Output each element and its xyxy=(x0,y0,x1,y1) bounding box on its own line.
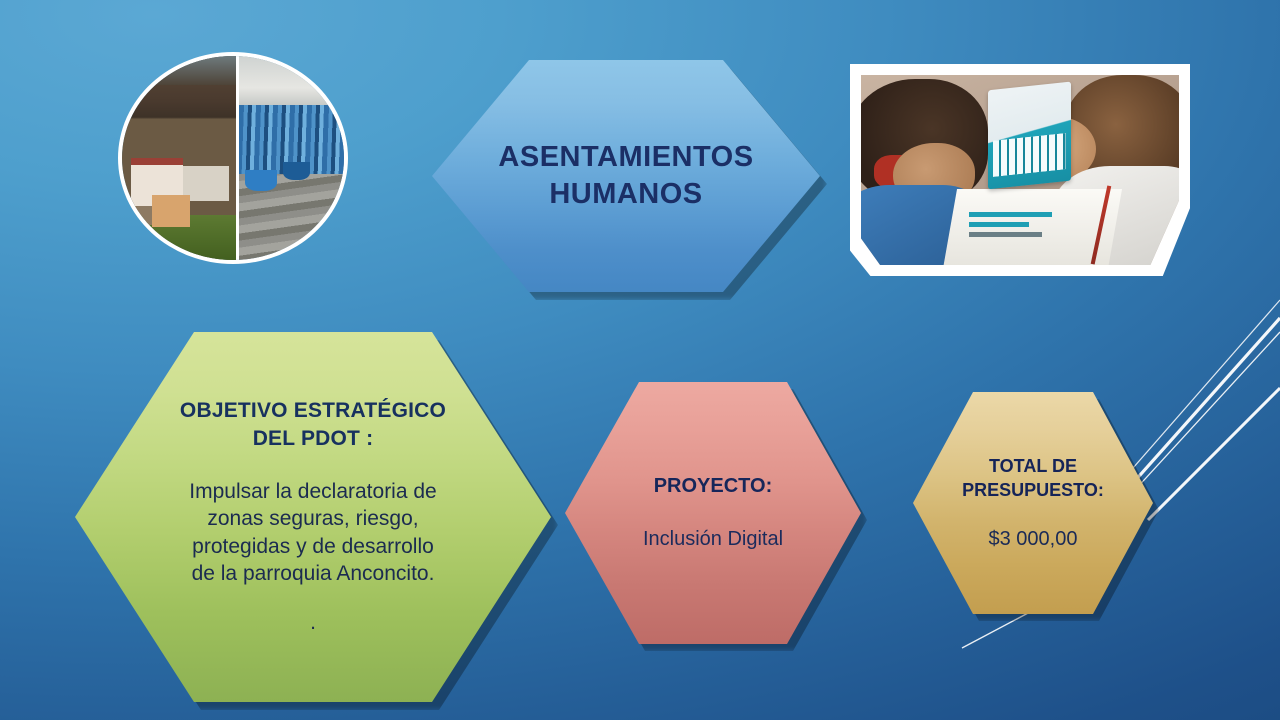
village-illustration xyxy=(122,56,236,260)
presupuesto-label-line-1: TOTAL DE xyxy=(962,455,1104,478)
worksheet-bar-1 xyxy=(969,212,1052,217)
harbor-illustration xyxy=(239,56,344,260)
objetivo-body-line-4: de la parroquia Anconcito. xyxy=(180,560,446,587)
objetivo-title-line-1: OBJETIVO ESTRATÉGICO xyxy=(180,397,446,424)
proyecto-hexagon-content: PROYECTO: Inclusión Digital xyxy=(643,475,783,551)
village-photo-half xyxy=(122,56,236,260)
village-house-3 xyxy=(152,195,191,228)
classroom-photo-frame xyxy=(850,64,1190,276)
presentation-slide: ASENTAMIENTOS HUMANOS OBJETIVO ESTRATÉGI… xyxy=(0,0,1280,720)
laptop-keyboard xyxy=(993,134,1066,177)
decor-line-4 xyxy=(1148,388,1280,520)
harbor-boat-a xyxy=(245,170,277,190)
title-hexagon-text: ASENTAMIENTOS HUMANOS xyxy=(498,139,753,213)
presupuesto-hexagon-content: TOTAL DE PRESUPUESTO: $3 000,00 xyxy=(962,455,1104,550)
title-line-1: ASENTAMIENTOS xyxy=(498,139,753,176)
objetivo-title: OBJETIVO ESTRATÉGICO DEL PDOT : xyxy=(180,397,446,452)
harbor-town xyxy=(239,56,344,109)
objetivo-body-line-3: protegidas y de desarrollo xyxy=(180,533,446,560)
proyecto-label: PROYECTO: xyxy=(643,475,783,498)
objetivo-body-line-1: Impulsar la declaratoria de xyxy=(180,478,446,505)
objetivo-body: Impulsar la declaratoria de zonas segura… xyxy=(180,478,446,587)
harbor-photo-half xyxy=(236,56,344,260)
worksheet-bar-2 xyxy=(969,222,1029,227)
split-circle-photo xyxy=(118,52,348,264)
laptop-device xyxy=(988,82,1071,189)
objetivo-title-line-2: DEL PDOT : xyxy=(180,425,446,452)
presupuesto-label-line-2: PRESUPUESTO: xyxy=(962,479,1104,502)
proyecto-value: Inclusión Digital xyxy=(643,528,783,551)
objetivo-hexagon-content: OBJETIVO ESTRATÉGICO DEL PDOT : Impulsar… xyxy=(166,397,460,636)
presupuesto-label: TOTAL DE PRESUPUESTO: xyxy=(962,455,1104,501)
worksheet-bar-3 xyxy=(969,232,1042,237)
classroom-photo xyxy=(861,75,1179,265)
title-line-2: HUMANOS xyxy=(498,176,753,213)
harbor-boat-b xyxy=(283,162,310,180)
objetivo-body-line-2: zonas seguras, riesgo, xyxy=(180,505,446,532)
worksheet-bars xyxy=(969,212,1052,258)
presupuesto-value: $3 000,00 xyxy=(962,528,1104,551)
objetivo-trailing-dot: . xyxy=(180,609,446,636)
village-sky xyxy=(122,56,236,85)
